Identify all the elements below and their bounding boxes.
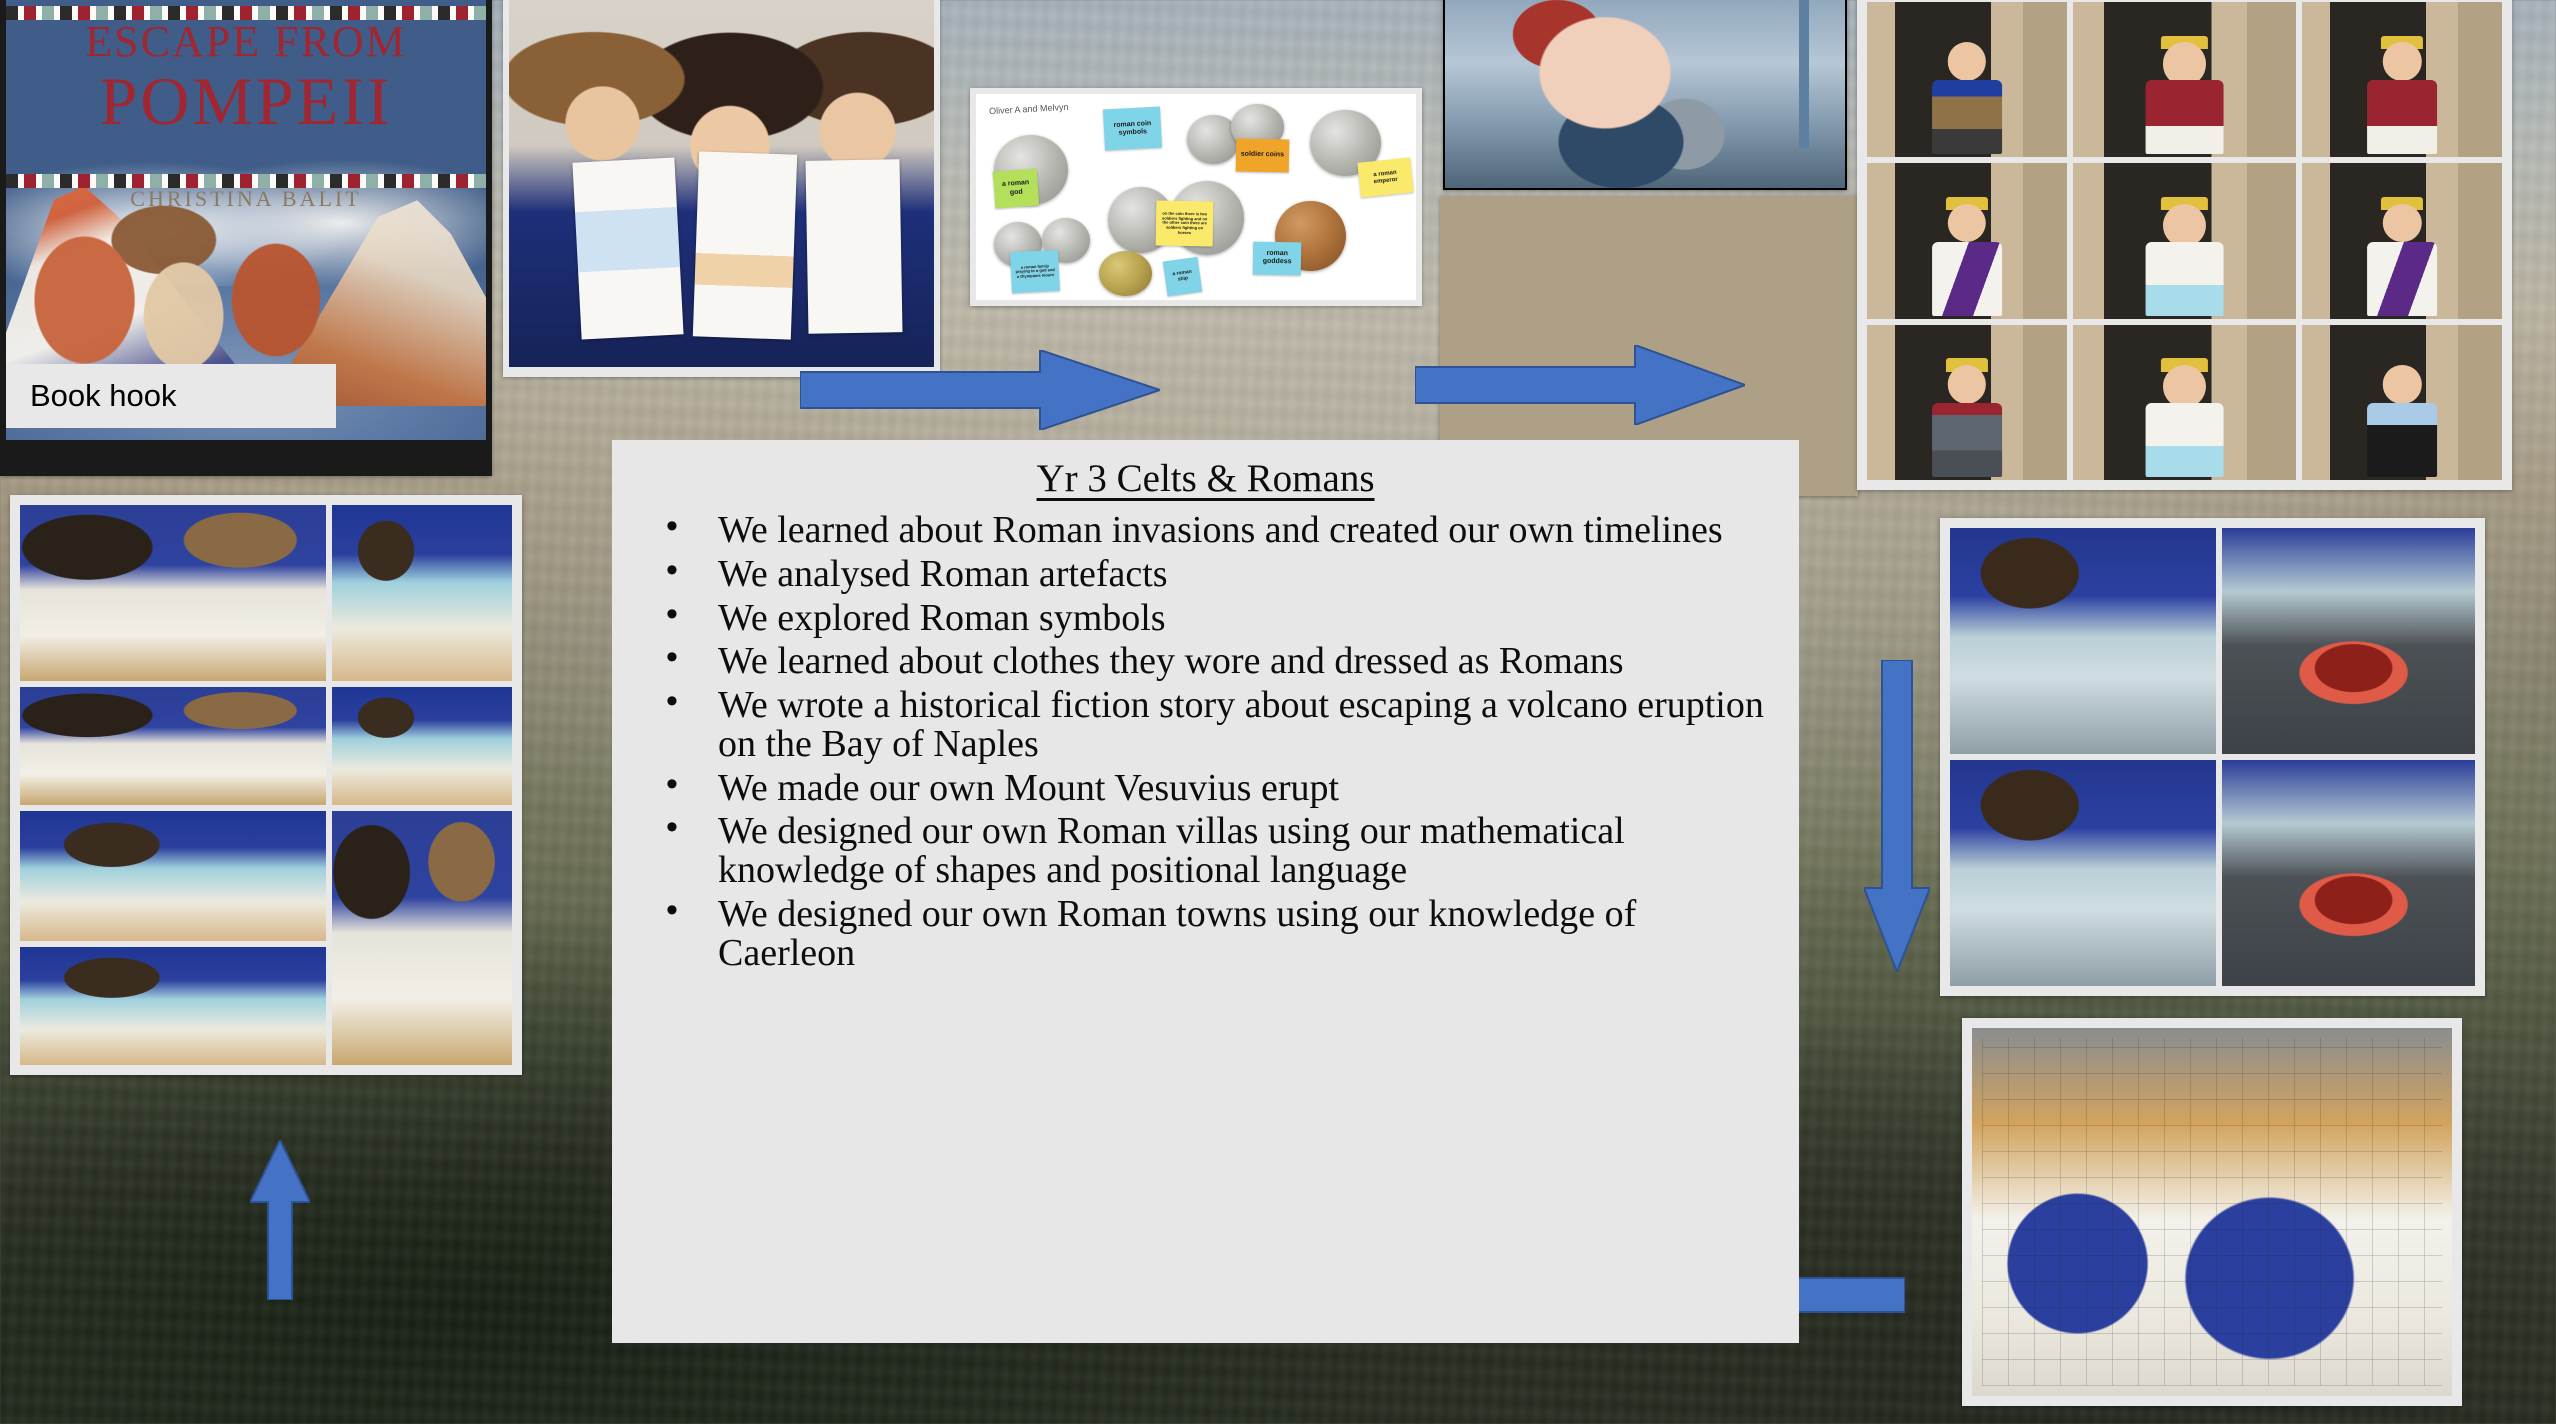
roman-coins-image: Oliver A and Melvyn roman coin symbols s…	[976, 94, 1416, 300]
sticky-note: a roman ship	[1163, 257, 1203, 297]
list-item: We wrote a historical fiction story abou…	[646, 686, 1773, 764]
photo-town-design-collage	[10, 495, 522, 1075]
celtic-warrior-image	[1445, 0, 1845, 188]
collage-cell	[2073, 2, 2297, 157]
arrow-up-icon	[250, 1140, 310, 1300]
collage-cell	[332, 687, 512, 805]
photo-celtic-warrior	[1443, 0, 1847, 190]
sticky-note: a roman god	[992, 169, 1038, 209]
sticky-note: soldier coins	[1235, 139, 1288, 173]
costume-collage-grid	[1867, 2, 2502, 480]
collage-cell	[2073, 325, 2297, 480]
book-title-line-2: POMPEII	[6, 62, 486, 141]
collage-cell	[2222, 528, 2475, 754]
coin-gold	[1099, 251, 1152, 296]
collage-cell	[1867, 2, 2067, 157]
kids-timeline-image	[509, 0, 934, 367]
list-item: We designed our own Roman villas using o…	[646, 812, 1773, 890]
child-in-costume	[1921, 204, 2013, 316]
collage-cell	[2073, 163, 2297, 318]
collage-cell	[2302, 325, 2502, 480]
sticky-note: a roman family praying to a god and a Ol…	[1010, 249, 1060, 293]
list-item: We designed our own Roman towns using ou…	[646, 895, 1773, 973]
collage-cell	[1950, 528, 2216, 754]
book-title-line-1: ESCAPE FROM	[6, 16, 486, 67]
child-in-costume	[2133, 204, 2236, 316]
collage-cell	[2222, 760, 2475, 986]
collage-cell	[1867, 325, 2067, 480]
child-in-costume	[1921, 42, 2013, 154]
photo-volcano-experiment-collage	[1940, 518, 2485, 996]
collage-cell	[2302, 163, 2502, 318]
child-in-costume	[2356, 42, 2448, 154]
book-hook-label: Book hook	[6, 364, 336, 428]
photo-kids-timeline	[503, 0, 940, 377]
collage-cell	[2302, 2, 2502, 157]
collage-cell	[332, 505, 512, 681]
page-title: Yr 3 Celts & Romans	[612, 440, 1799, 501]
learning-bullet-list: We learned about Roman invasions and cre…	[646, 511, 1773, 972]
timeline-worksheet	[572, 158, 683, 340]
sticky-note: on the coin there is two soldiers fighti…	[1156, 201, 1214, 247]
collage-cell	[1950, 760, 2216, 986]
sticky-note: roman coin symbols	[1103, 107, 1162, 151]
list-item: We learned about Roman invasions and cre…	[646, 511, 1773, 550]
collage-cell	[1867, 163, 2067, 318]
photo-costume-collage	[1857, 0, 2512, 490]
photo-town-plan	[1962, 1018, 2462, 1406]
list-item: We learned about clothes they wore and d…	[646, 642, 1773, 681]
list-item: We explored Roman symbols	[646, 599, 1773, 638]
town-plan-image	[1972, 1028, 2452, 1396]
grid-paper-lines	[1982, 1038, 2442, 1386]
child-in-costume	[2356, 365, 2448, 477]
collage-cell	[20, 947, 326, 1065]
town-collage-grid	[20, 505, 512, 1065]
child-in-costume	[2133, 42, 2236, 154]
child-in-costume	[1921, 365, 2013, 477]
child-in-costume	[2133, 365, 2236, 477]
arrow-right-2-icon	[1415, 345, 1745, 425]
pupil-names-label: Oliver A and Melvyn	[989, 102, 1069, 116]
timeline-worksheet	[805, 160, 902, 335]
arrow-down-icon	[1864, 660, 1930, 972]
arrow-right-1-icon	[800, 350, 1160, 430]
collage-cell	[20, 687, 326, 805]
staff-shape	[1799, 0, 1809, 148]
photo-roman-coins-board: Oliver A and Melvyn roman coin symbols s…	[970, 88, 1422, 306]
topic-summary-panel: Yr 3 Celts & Romans We learned about Rom…	[612, 440, 1799, 1343]
collage-cell	[20, 811, 326, 942]
list-item: We made our own Mount Vesuvius erupt	[646, 769, 1773, 808]
child-in-costume	[2356, 204, 2448, 316]
book-author: CHRISTINA BALIT	[6, 186, 486, 212]
timeline-worksheet	[693, 151, 797, 339]
sticky-note: a roman emperor	[1357, 157, 1413, 197]
collage-cell	[20, 505, 326, 681]
list-item: We analysed Roman artefacts	[646, 555, 1773, 594]
volcano-collage-grid	[1950, 528, 2475, 986]
collage-cell	[332, 811, 512, 1065]
sticky-note: roman goddess	[1253, 242, 1302, 276]
book-hook-card: ESCAPE FROM POMPEII CHRISTINA BALIT Book…	[0, 0, 492, 476]
